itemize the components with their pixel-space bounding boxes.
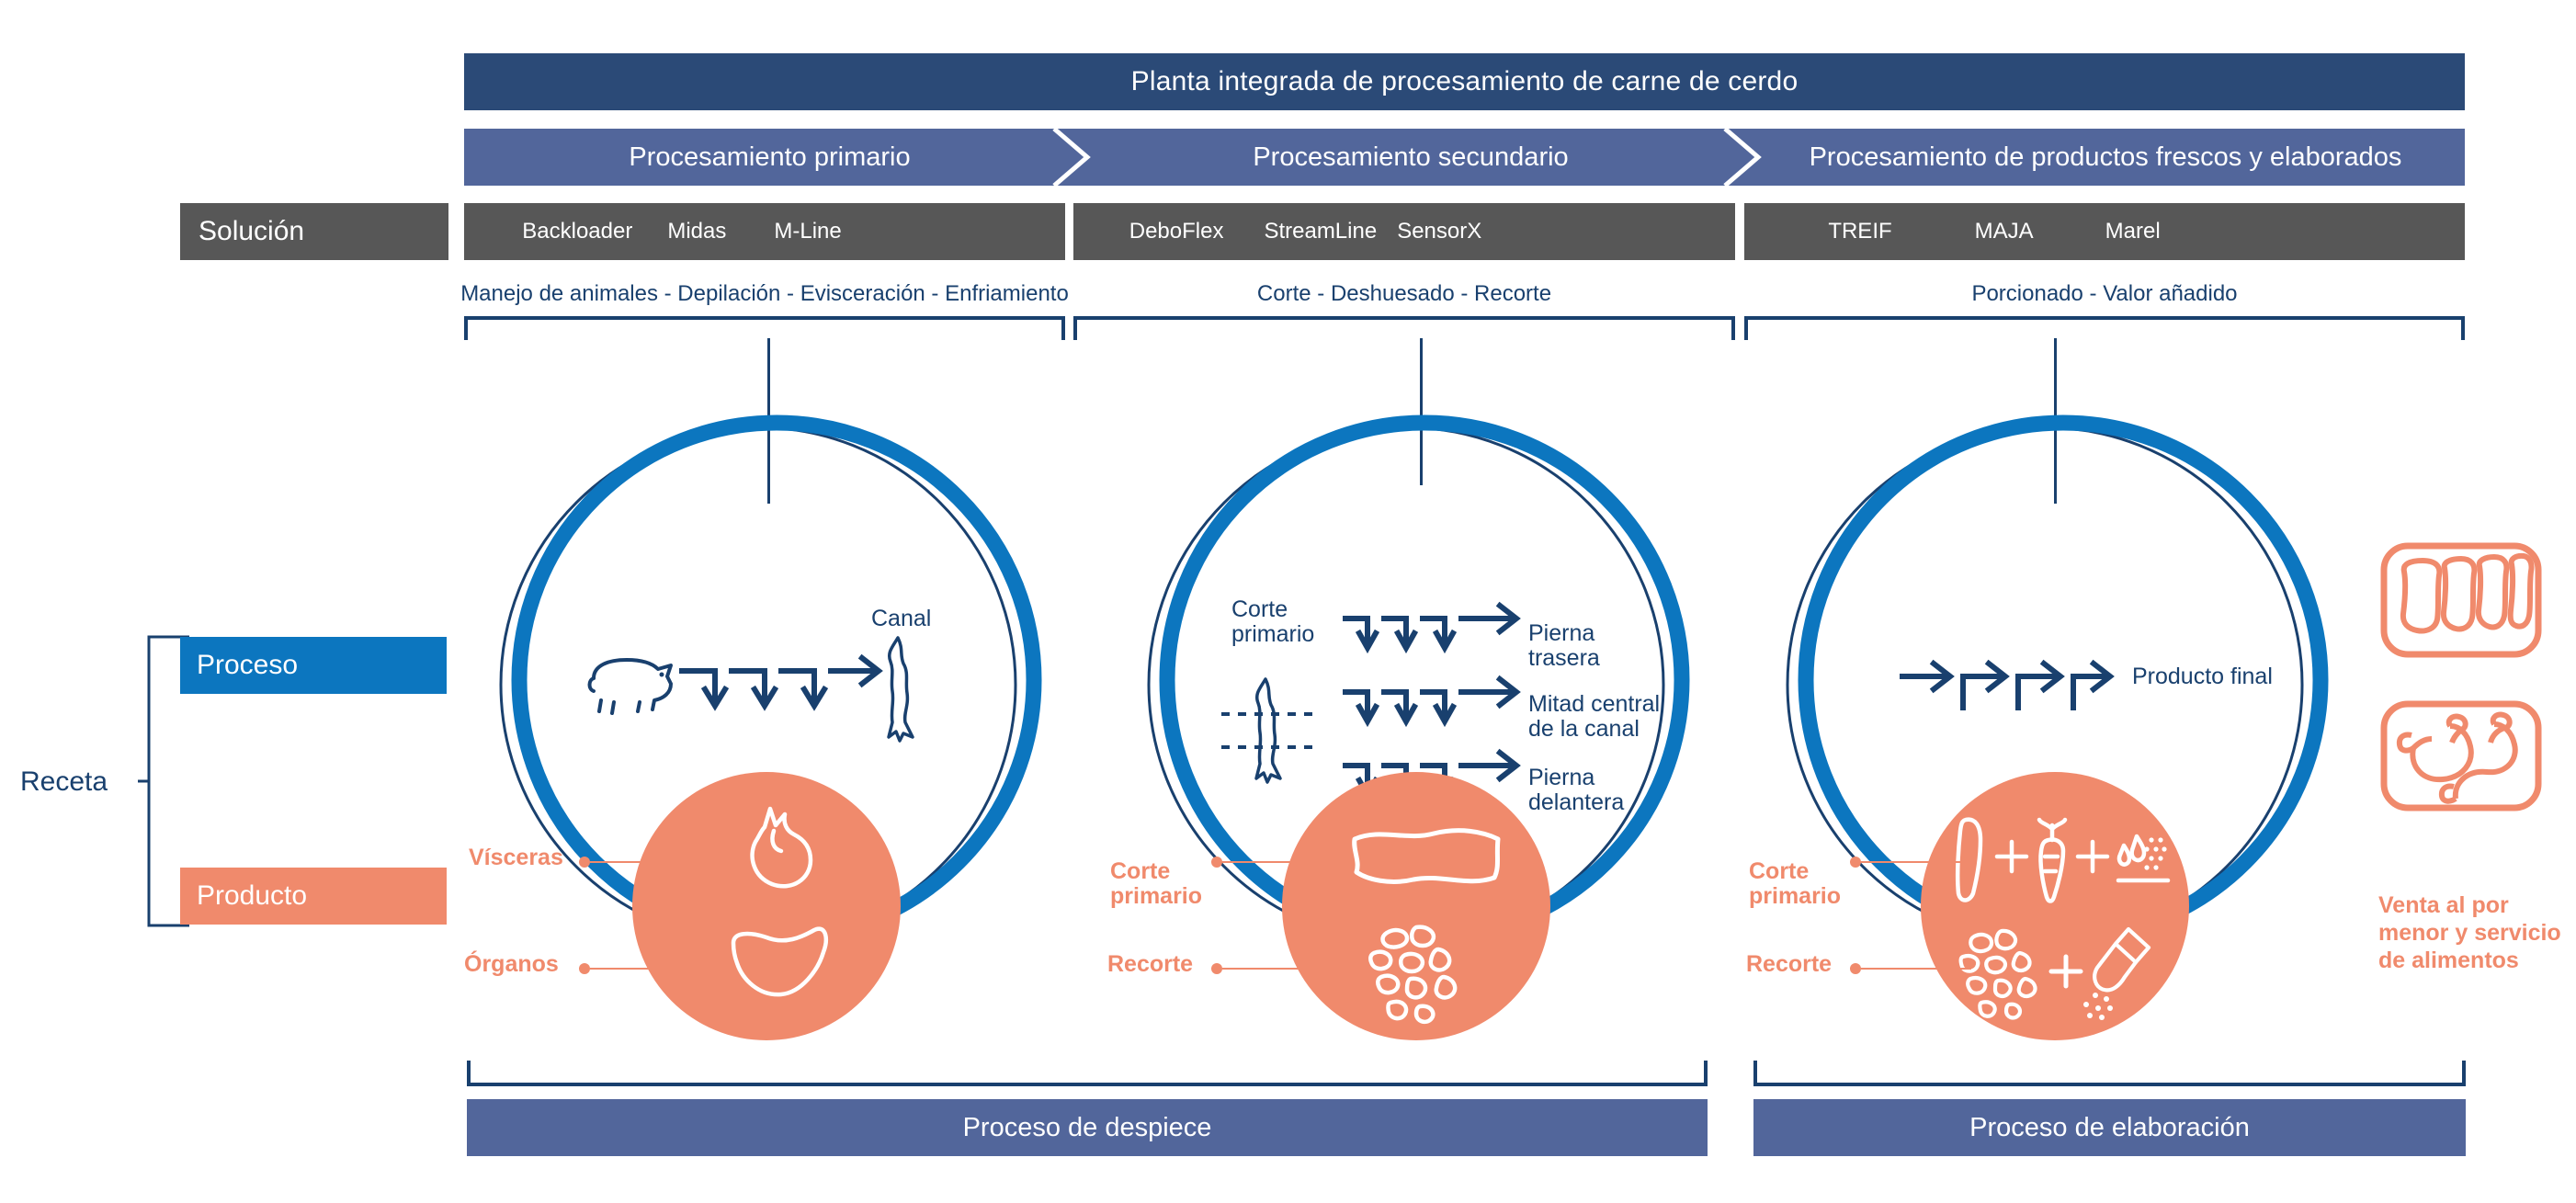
bottom-bar-elaboracion-label: Proceso de elaboración	[1969, 1113, 2250, 1143]
bottom-bar-despiece: Proceso de despiece	[467, 1099, 1708, 1156]
bracket-bottom-despiece	[467, 1061, 1708, 1086]
callout-corte-primario-label-3: Corte primario	[1749, 834, 1841, 909]
page-title: Planta integrada de procesamiento de car…	[1131, 66, 1799, 97]
callout-organos-leader	[590, 968, 691, 970]
steps-primary-text: Manejo de animales - Depilación - Evisce…	[460, 281, 1069, 307]
callout-visceras-label: Vísceras	[469, 846, 563, 870]
callout-organos-dot	[579, 963, 590, 974]
liver-icon	[726, 919, 832, 1002]
belly-cut-icon	[1349, 823, 1505, 891]
bracket-top-primary	[464, 316, 1065, 340]
carcass-icon	[878, 634, 924, 744]
corte-primario-label-circle2: Corte primario	[1231, 572, 1314, 648]
solution-group-fresh: TREIF MAJA Marel	[1744, 203, 2465, 260]
callout-corte-primario-leader-3	[1861, 861, 1962, 863]
pig-icon	[586, 653, 678, 717]
stage-primary[interactable]: Procesamiento primario	[464, 129, 1075, 186]
trimmings-icon	[1363, 922, 1473, 1027]
bracket-top-fresh	[1744, 316, 2465, 340]
mitad-central-label: Mitad central de la canal	[1528, 666, 1660, 743]
stage-band: Procesamiento primario Procesamiento sec…	[464, 129, 2465, 186]
solution-item-maja[interactable]: MAJA	[1975, 219, 2034, 244]
chevron-right-icon-2	[1721, 129, 1764, 186]
process-arrows-fresh	[1901, 653, 2121, 726]
solution-row-label: Solución	[180, 203, 448, 260]
callout-recorte-label-3: Recorte	[1746, 952, 1832, 977]
trimmings-plus-shaker-icon	[1958, 924, 2155, 1025]
producto-final-label: Producto final	[2132, 664, 2273, 690]
callout-recorte-label-2: Recorte	[1107, 952, 1193, 977]
pierna-delantera-label: Pierna delantera	[1528, 740, 1624, 816]
solution-item-deboflex[interactable]: DeboFlex	[1129, 219, 1224, 244]
steps-primary: Manejo de animales - Depilación - Evisce…	[464, 276, 1065, 312]
steps-secondary: Corte - Deshuesado - Recorte	[1073, 276, 1735, 312]
retail-label: Venta al por menor y servicio de aliment…	[2378, 864, 2571, 974]
callout-recorte-dot-2	[1211, 963, 1222, 974]
solution-group-secondary: DeboFlex StreamLine SensorX	[1073, 203, 1735, 260]
solution-group-primary: Backloader Midas M-Line	[464, 203, 1065, 260]
steps-secondary-text: Corte - Deshuesado - Recorte	[1257, 281, 1551, 307]
receta-label: Receta	[20, 766, 108, 798]
callout-corte-primario-dot-2	[1211, 857, 1222, 868]
page-title-bar: Planta integrada de procesamiento de car…	[464, 53, 2465, 110]
bottom-bar-elaboracion: Proceso de elaboración	[1753, 1099, 2466, 1156]
callout-corte-primario-label-2: Corte primario	[1110, 834, 1202, 909]
callout-visceras-dot	[579, 857, 590, 868]
solution-item-streamline[interactable]: StreamLine	[1264, 219, 1377, 244]
solution-item-mline[interactable]: M-Line	[774, 219, 841, 244]
callout-recorte-dot-3	[1850, 963, 1861, 974]
process-arrows-primary	[680, 643, 882, 726]
proceso-label: Proceso	[197, 650, 298, 681]
pierna-trasera-label: Pierna trasera	[1528, 596, 1600, 672]
steps-fresh-text: Porcionado - Valor añadido	[1971, 281, 2237, 307]
sausages-tray-icon	[2378, 698, 2544, 813]
cut-plus-carrot-plus-seasoning-icon	[1953, 809, 2164, 910]
callout-recorte-leader-3	[1861, 968, 1971, 970]
solution-label-text: Solución	[199, 216, 304, 247]
stage-fresh-label: Procesamiento de productos frescos y ela…	[1810, 142, 2402, 173]
stage-secondary[interactable]: Procesamiento secundario	[1075, 129, 1746, 186]
callout-corte-primario-dot-3	[1850, 857, 1861, 868]
callout-corte-primario-leader-2	[1222, 861, 1323, 863]
bottom-bar-despiece-label: Proceso de despiece	[963, 1113, 1212, 1143]
meat-slices-tray-icon	[2378, 540, 2544, 660]
producto-label: Producto	[197, 880, 307, 912]
chevron-right-icon-1	[1050, 129, 1093, 186]
heart-icon	[733, 800, 825, 896]
solution-item-midas[interactable]: Midas	[667, 219, 726, 244]
callout-organos-label: Órganos	[464, 952, 559, 977]
steps-fresh: Porcionado - Valor añadido	[1744, 276, 2465, 312]
bracket-bottom-elaboracion	[1753, 1061, 2466, 1086]
proceso-chip: Proceso	[180, 637, 447, 694]
carcass-cut-icon	[1218, 675, 1319, 781]
stage-primary-label: Procesamiento primario	[629, 142, 910, 173]
stage-secondary-label: Procesamiento secundario	[1253, 142, 1568, 173]
bracket-top-secondary	[1073, 316, 1735, 340]
solution-item-sensorx[interactable]: SensorX	[1397, 219, 1481, 244]
callout-recorte-leader-2	[1222, 968, 1333, 970]
solution-item-marel[interactable]: Marel	[2105, 219, 2161, 244]
stage-fresh[interactable]: Procesamiento de productos frescos y ela…	[1746, 129, 2465, 186]
solution-item-backloader[interactable]: Backloader	[522, 219, 632, 244]
producto-chip: Producto	[180, 868, 447, 925]
canal-label: Canal	[871, 607, 931, 632]
callout-visceras-leader	[590, 861, 682, 863]
solution-item-treif[interactable]: TREIF	[1828, 219, 1891, 244]
